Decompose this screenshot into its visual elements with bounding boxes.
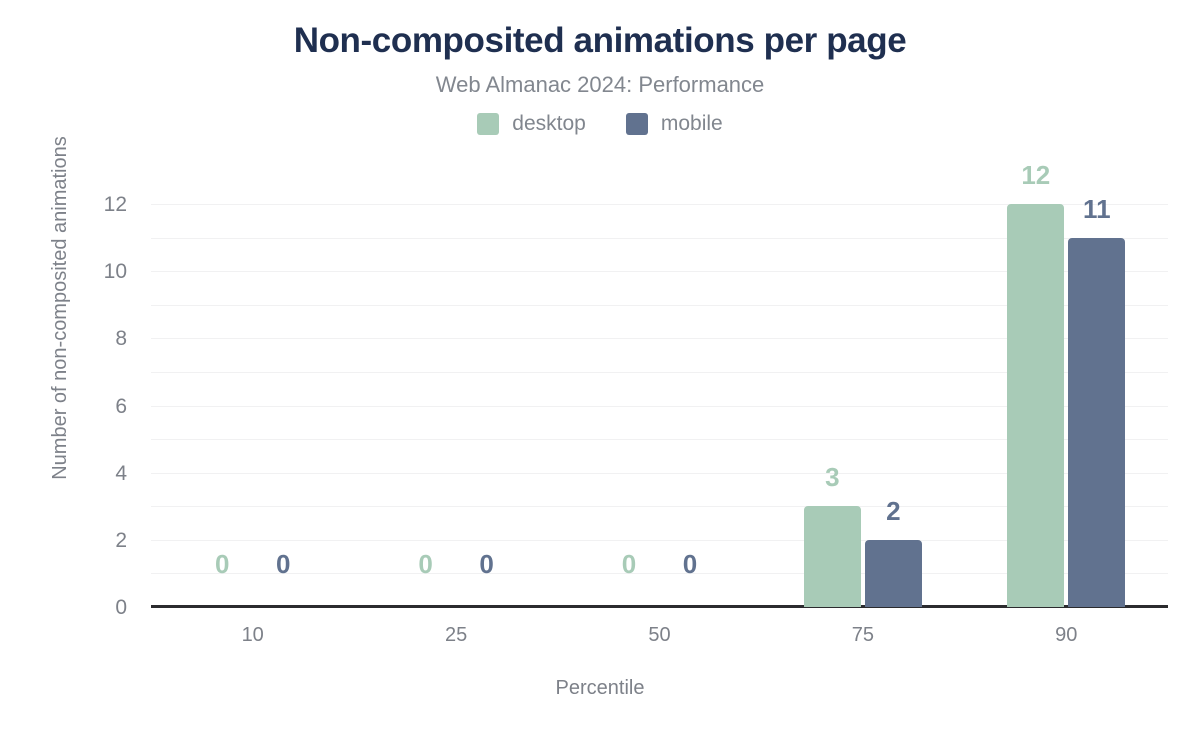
chart-legend: desktop mobile bbox=[0, 113, 1200, 135]
x-axis-tick-label: 90 bbox=[1006, 625, 1126, 645]
x-axis-tick-label: 75 bbox=[803, 625, 923, 645]
y-axis-tick-label: 2 bbox=[0, 529, 143, 553]
bar-mobile-p75[interactable] bbox=[865, 540, 922, 607]
x-axis-title: Percentile bbox=[0, 678, 1200, 698]
gridline bbox=[151, 305, 1168, 306]
legend-swatch-mobile bbox=[626, 113, 648, 135]
bar-value-label-desktop-p25: 0 bbox=[386, 551, 466, 577]
bar-mobile-p90[interactable] bbox=[1068, 238, 1125, 607]
gridline bbox=[151, 573, 1168, 574]
legend-label-desktop: desktop bbox=[512, 113, 586, 134]
legend-item-mobile[interactable]: mobile bbox=[626, 113, 723, 135]
bar-value-label-desktop-p90: 12 bbox=[996, 162, 1076, 188]
gridline bbox=[151, 204, 1168, 205]
y-axis-tick-label: 12 bbox=[0, 193, 143, 217]
legend-swatch-desktop bbox=[477, 113, 499, 135]
gridline bbox=[151, 607, 1168, 608]
gridline bbox=[151, 271, 1168, 272]
x-axis-line bbox=[151, 605, 1168, 608]
gridline bbox=[151, 540, 1168, 541]
legend-label-mobile: mobile bbox=[661, 113, 723, 134]
chart-gridlines bbox=[151, 204, 1168, 607]
bar-value-label-desktop-p75: 3 bbox=[792, 464, 872, 490]
gridline bbox=[151, 473, 1168, 474]
bar-value-label-mobile-p75: 2 bbox=[853, 498, 933, 524]
chart-subtitle: Web Almanac 2024: Performance bbox=[0, 73, 1200, 97]
bar-value-label-mobile-p90: 11 bbox=[1057, 196, 1137, 222]
x-axis-tick-label: 50 bbox=[600, 625, 720, 645]
gridline bbox=[151, 406, 1168, 407]
y-axis-tick-label: 0 bbox=[0, 596, 143, 620]
y-axis-tick-label: 6 bbox=[0, 395, 143, 419]
y-axis-tick-label: 4 bbox=[0, 462, 143, 486]
legend-item-desktop[interactable]: desktop bbox=[477, 113, 586, 135]
chart-bars: 000000321211 bbox=[151, 204, 1168, 607]
chart-header: Non-composited animations per page Web A… bbox=[0, 0, 1200, 135]
bar-value-label-mobile-p50: 0 bbox=[650, 551, 730, 577]
x-axis-tick-label: 10 bbox=[193, 625, 313, 645]
x-axis-tick-label: 25 bbox=[396, 625, 516, 645]
bar-desktop-p90[interactable] bbox=[1007, 204, 1064, 607]
bar-desktop-p75[interactable] bbox=[804, 506, 861, 607]
y-axis-tick-label: 8 bbox=[0, 327, 143, 351]
gridline bbox=[151, 238, 1168, 239]
gridline bbox=[151, 338, 1168, 339]
gridline bbox=[151, 372, 1168, 373]
chart-title: Non-composited animations per page bbox=[0, 22, 1200, 61]
bar-value-label-desktop-p10: 0 bbox=[182, 551, 262, 577]
y-axis-title: Number of non-composited animations bbox=[50, 98, 70, 518]
bar-value-label-desktop-p50: 0 bbox=[589, 551, 669, 577]
bar-value-label-mobile-p10: 0 bbox=[243, 551, 323, 577]
y-axis-tick-label: 10 bbox=[0, 260, 143, 284]
bar-value-label-mobile-p25: 0 bbox=[447, 551, 527, 577]
gridline bbox=[151, 506, 1168, 507]
gridline bbox=[151, 439, 1168, 440]
